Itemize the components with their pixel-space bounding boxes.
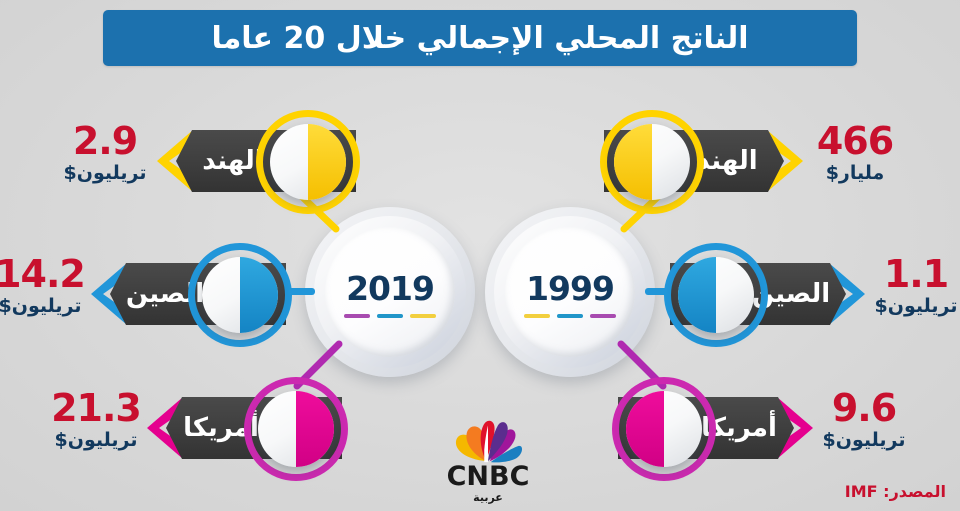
source-label: المصدر: IMF <box>845 482 946 501</box>
badge-half-fill <box>296 391 334 467</box>
value-number: 14.2 <box>0 255 88 293</box>
badge-disc-usa <box>626 391 702 467</box>
cnbc-logo: CNBC عربية <box>432 418 544 504</box>
year-label-2019: 2019 <box>346 272 434 305</box>
value-number: 466 <box>810 122 900 160</box>
peacock-icon <box>450 418 526 463</box>
row-usa-1999[interactable]: 9.6 تريليون$ أمريكا <box>612 375 912 483</box>
dash-blue <box>377 314 403 318</box>
value-usa-2019: 21.3 تريليون$ <box>48 389 144 450</box>
page-title: الناتج المحلي الإجمالي خلال 20 عاما <box>103 10 857 66</box>
badge-disc-usa <box>258 391 334 467</box>
value-number: 9.6 <box>816 389 912 427</box>
badge-half-fill <box>626 391 664 467</box>
row-usa-2019[interactable]: 21.3 تريليون$ أمريكا <box>48 375 348 483</box>
year-circle-inner: 1999 <box>505 227 635 357</box>
country-label: الهند <box>696 146 757 176</box>
cnbc-wordmark: CNBC <box>447 463 530 490</box>
value-unit: تريليون$ <box>60 164 150 183</box>
cnbc-arabic-label: عربية <box>473 491 503 504</box>
value-india-1999: 466 مليار$ <box>810 122 900 183</box>
value-china-2019: 14.2 تريليون$ <box>0 255 88 316</box>
year-dashes-2019 <box>344 314 436 318</box>
value-usa-1999: 9.6 تريليون$ <box>816 389 912 450</box>
year-dashes-1999 <box>524 314 616 318</box>
value-india-2019: 2.9 تريليون$ <box>60 122 150 183</box>
dash-yellow <box>410 314 436 318</box>
value-unit: تريليون$ <box>868 297 960 316</box>
value-unit: تريليون$ <box>0 297 88 316</box>
dash-yellow <box>524 314 550 318</box>
row-india-2019[interactable]: 2.9 تريليون$ الهند <box>60 108 350 216</box>
badge-disc-china <box>678 257 754 333</box>
value-unit: تريليون$ <box>48 431 144 450</box>
badge-half-fill <box>614 124 652 200</box>
value-unit: مليار$ <box>810 164 900 183</box>
value-number: 2.9 <box>60 122 150 160</box>
dash-magenta <box>344 314 370 318</box>
country-label: الهند <box>202 146 263 176</box>
value-china-1999: 1.1 تريليون$ <box>868 255 960 316</box>
value-number: 1.1 <box>868 255 960 293</box>
badge-disc-china <box>202 257 278 333</box>
year-circle-inner: 2019 <box>325 227 455 357</box>
badge-disc-india <box>270 124 346 200</box>
year-label-1999: 1999 <box>526 272 614 305</box>
row-china-1999[interactable]: 1.1 تريليون$ الصين <box>664 241 960 349</box>
dash-blue <box>557 314 583 318</box>
badge-disc-india <box>614 124 690 200</box>
page-title-text: الناتج المحلي الإجمالي خلال 20 عاما <box>211 21 748 56</box>
value-unit: تريليون$ <box>816 431 912 450</box>
value-number: 21.3 <box>48 389 144 427</box>
row-china-2019[interactable]: 14.2 تريليون$ الصين <box>0 241 292 349</box>
badge-half-fill <box>678 257 716 333</box>
dash-magenta <box>590 314 616 318</box>
badge-half-fill <box>308 124 346 200</box>
row-india-1999[interactable]: 466 مليار$ الهند <box>610 108 900 216</box>
badge-half-fill <box>240 257 278 333</box>
